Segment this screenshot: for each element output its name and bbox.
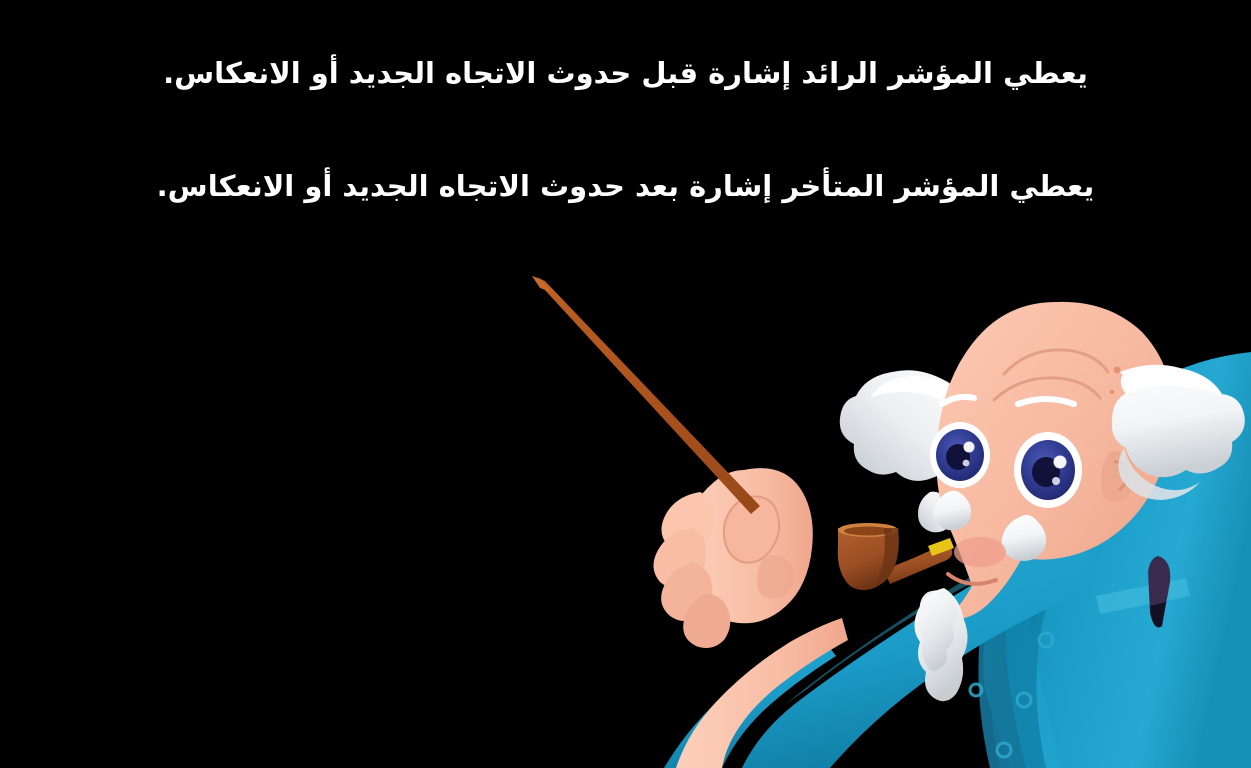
finger-1: [661, 492, 714, 553]
sleeve-forearm: [664, 632, 836, 768]
head-shape: [936, 302, 1172, 620]
shirt-collar-left: [978, 560, 1026, 768]
hair-right-highlight: [1121, 368, 1222, 396]
finger-4: [683, 594, 730, 648]
pointer-stick-shaft: [532, 276, 760, 514]
hair-right-shape: [1112, 365, 1245, 477]
eye-right: [1014, 432, 1082, 508]
knuckle-shadow: [757, 555, 794, 599]
eyebrow-left: [942, 397, 974, 404]
fist-palm: [679, 468, 813, 623]
pipe-band: [928, 538, 954, 556]
pipe: [838, 523, 954, 590]
shirt-buttons: [970, 633, 1053, 757]
pen-icon: [1148, 556, 1170, 627]
pipe-bowl: [838, 528, 899, 590]
ear: [1101, 451, 1136, 502]
shirt-pocket: [1096, 578, 1190, 614]
hair-tuft-left: [840, 370, 972, 532]
pipe-bowl-hole: [844, 527, 892, 536]
shirt-button: [1039, 633, 1053, 647]
smoke: [918, 590, 958, 671]
shirt-button: [997, 743, 1011, 757]
cheek-wisp-right: [1002, 515, 1046, 561]
hair-right-lower: [1118, 448, 1200, 500]
forearm: [676, 618, 848, 768]
pointer-stick: [532, 276, 760, 514]
goatee-shape: [914, 588, 967, 701]
sleeve: [742, 520, 1090, 768]
leading-indicator-line: يعطي المؤشر الرائد إشارة قبل حدوث الاتجا…: [0, 54, 1251, 93]
goatee-highlight: [926, 592, 952, 614]
shirt-shoulder: [1028, 352, 1251, 768]
head: [930, 302, 1172, 620]
shirt-button: [1017, 693, 1031, 707]
pipe-bowl-shadow: [872, 528, 899, 586]
eyebrows: [942, 397, 1074, 404]
hair-left-shape: [840, 370, 972, 481]
lagging-indicator-line: يعطي المؤشر المتأخر إشارة بعد حدوث الاتج…: [0, 167, 1251, 206]
slide-text-block: يعطي المؤشر الرائد إشارة قبل حدوث الاتجا…: [0, 0, 1251, 206]
finger-2: [653, 528, 706, 589]
goatee-beard: [914, 588, 967, 701]
cheek-wisp-left: [934, 491, 971, 531]
shirt-body: [978, 352, 1251, 768]
shirt-shadow: [991, 500, 1100, 768]
hair-left-highlight: [870, 376, 948, 400]
forearm-shape: [676, 618, 848, 768]
shirt-pocket-group: [1096, 556, 1190, 627]
hair-left-wisp: [918, 492, 953, 533]
shirt-button: [970, 684, 982, 696]
pointer-stick-tip: [532, 276, 551, 292]
age-spots: [1110, 367, 1137, 431]
pen-tip: [1150, 602, 1166, 627]
finger-3: [661, 562, 712, 621]
hair-tuft-right: [1112, 365, 1245, 500]
thumb: [724, 497, 779, 563]
shirt-torso: [983, 467, 1251, 768]
pipe-bowl-rim: [838, 523, 898, 537]
mouth: [948, 574, 996, 584]
eyebrow-right: [1018, 399, 1074, 404]
sleeve-highlight: [786, 518, 1090, 704]
hand-fist: [653, 468, 812, 648]
eye-left: [930, 422, 990, 488]
pipe-stem: [884, 546, 952, 584]
shirt-sleeve-arm: [664, 518, 1090, 768]
smoke-puff: [918, 590, 958, 671]
ear-inner: [1114, 462, 1126, 490]
forehead-wrinkles: [994, 350, 1108, 400]
cheek-blush: [954, 537, 1006, 567]
slide-canvas: يعطي المؤشر الرائد إشارة قبل حدوث الاتجا…: [0, 0, 1251, 768]
